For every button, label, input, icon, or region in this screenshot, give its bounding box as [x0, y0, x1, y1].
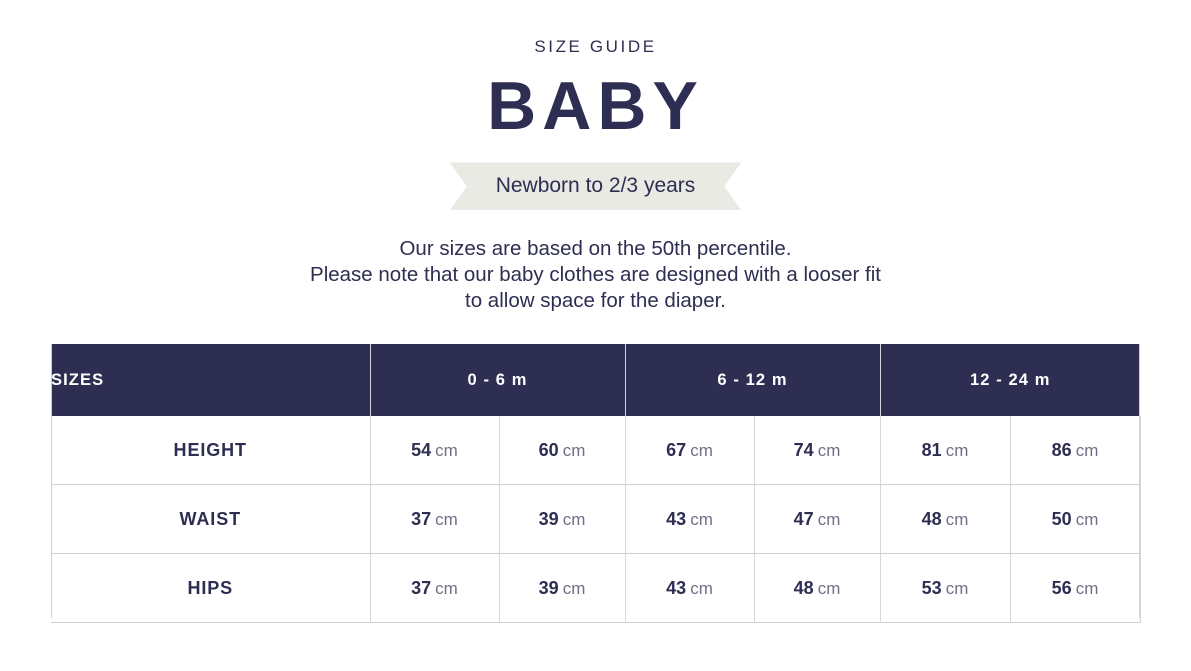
header-group-1: 6 - 12 m [625, 344, 880, 416]
table-header-row: SIZES 0 - 6 m 6 - 12 m 12 - 24 m [51, 344, 1140, 416]
unit: cm [435, 510, 458, 529]
value: 50 [1052, 509, 1072, 529]
cell-waist-2: 43cm [625, 485, 754, 554]
value: 74 [794, 440, 814, 460]
page-title: BABY [0, 71, 1191, 142]
cell-height-5: 86cm [1010, 416, 1140, 485]
age-range-ribbon: Newborn to 2/3 years [450, 162, 742, 210]
value: 43 [666, 509, 686, 529]
unit: cm [690, 441, 713, 460]
unit: cm [435, 579, 458, 598]
cell-height-1: 60cm [499, 416, 625, 485]
value: 53 [922, 578, 942, 598]
cell-hips-1: 39cm [499, 554, 625, 623]
unit: cm [435, 441, 458, 460]
value: 54 [411, 440, 431, 460]
intro-paragraph: Our sizes are based on the 50th percenti… [0, 236, 1191, 314]
header-group-2: 12 - 24 m [880, 344, 1140, 416]
unit: cm [563, 579, 586, 598]
cell-hips-2: 43cm [625, 554, 754, 623]
row-label-waist: WAIST [51, 485, 370, 554]
cell-waist-1: 39cm [499, 485, 625, 554]
unit: cm [690, 579, 713, 598]
unit: cm [818, 579, 841, 598]
row-label-height: HEIGHT [51, 416, 370, 485]
unit: cm [946, 510, 969, 529]
cell-height-0: 54cm [370, 416, 499, 485]
unit: cm [1076, 510, 1099, 529]
unit: cm [563, 441, 586, 460]
cell-height-2: 67cm [625, 416, 754, 485]
cell-waist-0: 37cm [370, 485, 499, 554]
cell-height-4: 81cm [880, 416, 1010, 485]
value: 43 [666, 578, 686, 598]
cell-hips-4: 53cm [880, 554, 1010, 623]
cell-waist-3: 47cm [754, 485, 880, 554]
value: 39 [539, 578, 559, 598]
unit: cm [1076, 441, 1099, 460]
unit: cm [946, 441, 969, 460]
table-row: HIPS 37cm 39cm 43cm 48cm 53cm 56cm [51, 554, 1140, 623]
size-table: SIZES 0 - 6 m 6 - 12 m 12 - 24 m HEIGHT … [51, 344, 1141, 623]
ribbon-container: Newborn to 2/3 years [0, 162, 1191, 210]
value: 39 [539, 509, 559, 529]
unit: cm [946, 579, 969, 598]
page-header: SIZE GUIDE BABY Newborn to 2/3 years [0, 0, 1191, 210]
unit: cm [563, 510, 586, 529]
unit: cm [818, 510, 841, 529]
value: 37 [411, 578, 431, 598]
value: 67 [666, 440, 686, 460]
header-group-0: 0 - 6 m [370, 344, 625, 416]
table-body: HEIGHT 54cm 60cm 67cm 74cm 81cm 86cm WAI… [51, 416, 1140, 623]
unit: cm [1076, 579, 1099, 598]
header-sizes: SIZES [51, 344, 370, 416]
value: 60 [539, 440, 559, 460]
value: 48 [922, 509, 942, 529]
size-guide-page: SIZE GUIDE BABY Newborn to 2/3 years Our… [0, 0, 1191, 671]
value: 48 [794, 578, 814, 598]
table-head: SIZES 0 - 6 m 6 - 12 m 12 - 24 m [51, 344, 1140, 416]
cell-hips-0: 37cm [370, 554, 499, 623]
table-row: WAIST 37cm 39cm 43cm 47cm 48cm 50cm [51, 485, 1140, 554]
value: 47 [794, 509, 814, 529]
value: 37 [411, 509, 431, 529]
intro-line-3: to allow space for the diaper. [0, 288, 1191, 314]
cell-hips-3: 48cm [754, 554, 880, 623]
row-label-hips: HIPS [51, 554, 370, 623]
size-table-wrapper: SIZES 0 - 6 m 6 - 12 m 12 - 24 m HEIGHT … [51, 344, 1140, 623]
value: 81 [922, 440, 942, 460]
unit: cm [818, 441, 841, 460]
cell-height-3: 74cm [754, 416, 880, 485]
unit: cm [690, 510, 713, 529]
value: 86 [1052, 440, 1072, 460]
cell-hips-5: 56cm [1010, 554, 1140, 623]
cell-waist-5: 50cm [1010, 485, 1140, 554]
table-row: HEIGHT 54cm 60cm 67cm 74cm 81cm 86cm [51, 416, 1140, 485]
eyebrow-label: SIZE GUIDE [0, 38, 1191, 55]
cell-waist-4: 48cm [880, 485, 1010, 554]
intro-line-2: Please note that our baby clothes are de… [0, 262, 1191, 288]
intro-line-1: Our sizes are based on the 50th percenti… [0, 236, 1191, 262]
value: 56 [1052, 578, 1072, 598]
